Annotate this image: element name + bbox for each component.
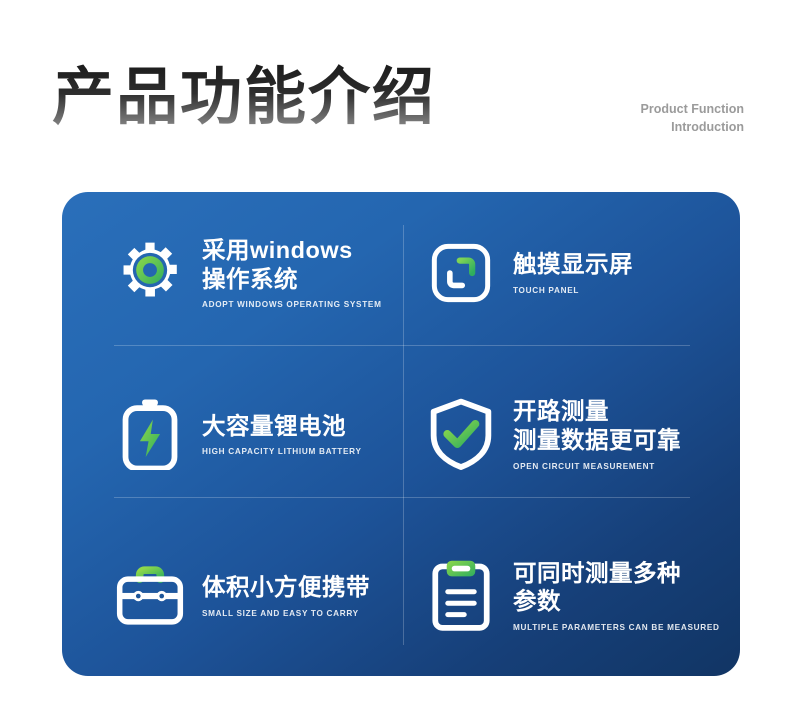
feature-title-en: ADOPT WINDOWS OPERATING SYSTEM xyxy=(202,300,382,309)
page-subtitle-line1: Product Function xyxy=(641,100,744,118)
feature-title-en: SMALL SIZE AND EASY TO CARRY xyxy=(202,609,370,618)
clipboard-icon xyxy=(423,555,499,635)
feature-title-en: MULTIPLE PARAMETERS CAN BE MEASURED xyxy=(513,623,720,632)
battery-icon xyxy=(112,394,188,474)
page-title: 产品功能介绍 xyxy=(52,64,436,129)
gear-icon xyxy=(112,233,188,313)
feature-title-cn: 体积小方便携带 xyxy=(202,573,370,602)
page-subtitle: Product Function Introduction xyxy=(641,100,744,136)
feature-card: 采用windows 操作系统 ADOPT WINDOWS OPERATING S… xyxy=(62,192,740,676)
feature-grid: 采用windows 操作系统 ADOPT WINDOWS OPERATING S… xyxy=(62,192,740,676)
feature-item-battery[interactable]: 大容量锂电池 HIGH CAPACITY LITHIUM BATTERY xyxy=(62,353,401,514)
feature-title-en: OPEN CIRCUIT MEASUREMENT xyxy=(513,462,681,471)
feature-text: 开路测量 测量数据更可靠 OPEN CIRCUIT MEASUREMENT xyxy=(513,397,681,470)
feature-title-cn: 触摸显示屏 xyxy=(513,250,633,279)
touch-panel-icon xyxy=(423,233,499,313)
feature-title-cn: 开路测量 测量数据更可靠 xyxy=(513,397,681,454)
feature-title-cn: 采用windows 操作系统 xyxy=(202,236,382,293)
feature-title-cn: 大容量锂电池 xyxy=(202,412,362,441)
feature-text: 大容量锂电池 HIGH CAPACITY LITHIUM BATTERY xyxy=(202,412,362,457)
shield-check-icon xyxy=(423,394,499,474)
feature-title-en: HIGH CAPACITY LITHIUM BATTERY xyxy=(202,447,362,456)
toolbox-icon xyxy=(112,555,188,635)
feature-item-touch-panel[interactable]: 触摸显示屏 TOUCH PANEL xyxy=(401,192,740,353)
feature-text: 可同时测量多种 参数 MULTIPLE PARAMETERS CAN BE ME… xyxy=(513,559,720,632)
page-subtitle-line2: Introduction xyxy=(641,118,744,136)
feature-item-portable[interactable]: 体积小方便携带 SMALL SIZE AND EASY TO CARRY xyxy=(62,515,401,676)
feature-item-multi-parameter[interactable]: 可同时测量多种 参数 MULTIPLE PARAMETERS CAN BE ME… xyxy=(401,515,740,676)
feature-text: 体积小方便携带 SMALL SIZE AND EASY TO CARRY xyxy=(202,573,370,618)
page-header: 产品功能介绍 Product Function Introduction xyxy=(0,0,800,175)
feature-title-cn: 可同时测量多种 参数 xyxy=(513,559,720,616)
feature-text: 采用windows 操作系统 ADOPT WINDOWS OPERATING S… xyxy=(202,236,382,309)
feature-item-windows[interactable]: 采用windows 操作系统 ADOPT WINDOWS OPERATING S… xyxy=(62,192,401,353)
feature-title-en: TOUCH PANEL xyxy=(513,286,633,295)
feature-item-open-circuit[interactable]: 开路测量 测量数据更可靠 OPEN CIRCUIT MEASUREMENT xyxy=(401,353,740,514)
feature-text: 触摸显示屏 TOUCH PANEL xyxy=(513,250,633,295)
